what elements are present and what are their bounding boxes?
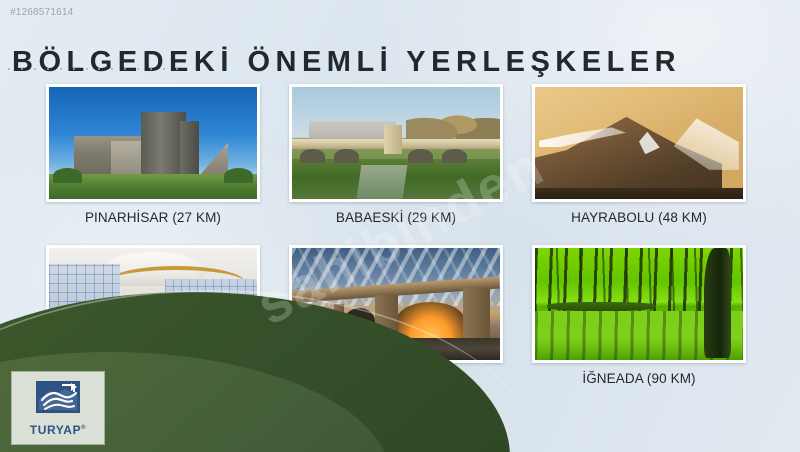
divider-dot: [124, 68, 126, 70]
divider-dot: [73, 68, 75, 70]
place-caption: İĞNEADA (90 KM): [532, 371, 746, 386]
place-caption: HAYRABOLU (48 KM): [532, 210, 746, 225]
brand-logo[interactable]: TURYAP®: [12, 372, 104, 444]
stone-base: [535, 188, 743, 199]
bridge-pier: [463, 288, 490, 344]
castle-ruins-photo: [49, 87, 257, 199]
divider-dot: [163, 68, 165, 70]
listing-id: #1268571614: [10, 7, 73, 18]
place-card-babaeski[interactable]: BABAESKİ (29 KM): [289, 84, 503, 225]
carved-relief-photo: [535, 87, 743, 199]
dotted-divider: [8, 68, 178, 72]
place-card-hayrabolu[interactable]: HAYRABOLU (48 KM): [532, 84, 746, 225]
bridge-arch: [334, 149, 359, 164]
photo-frame: [532, 84, 746, 202]
photo-frame: [532, 245, 746, 363]
river: [356, 165, 406, 199]
divider-dot: [137, 68, 139, 70]
registered-mark: ®: [81, 425, 86, 431]
bush: [224, 168, 253, 184]
divider-dot: [34, 68, 36, 70]
ruin-tower-secondary: [180, 121, 199, 181]
presentation-slide: #1268571614 BÖLGEDEKİ ÖNEMLİ YERLEŞKELER…: [0, 0, 800, 452]
bridge-arch: [300, 149, 325, 164]
divider-dot: [150, 68, 152, 70]
bridge-arch: [442, 149, 467, 164]
place-caption: BABAESKİ (29 KM): [289, 210, 503, 225]
foreground-tree-trunk: [704, 248, 731, 358]
place-card-pinarhisar[interactable]: PINARHİSAR (27 KM): [46, 84, 260, 225]
divider-dot: [47, 68, 49, 70]
photo-frame: [289, 84, 503, 202]
bridge-pylon: [384, 125, 403, 154]
bridge-arch: [408, 149, 433, 164]
place-caption: PINARHİSAR (27 KM): [46, 210, 260, 225]
divider-dot: [98, 68, 100, 70]
bush: [53, 168, 82, 184]
divider-dot: [21, 68, 23, 70]
place-card-igneada[interactable]: İĞNEADA (90 KM): [532, 245, 746, 386]
handshake-icon: [32, 379, 84, 423]
divider-dot: [176, 68, 178, 70]
divider-dot: [86, 68, 88, 70]
flooded-forest-photo: [535, 248, 743, 360]
photo-frame: [46, 84, 260, 202]
shoreline: [547, 302, 655, 311]
stone-bridge-photo: [292, 87, 500, 199]
divider-dot: [60, 68, 62, 70]
page-title: BÖLGEDEKİ ÖNEMLİ YERLEŞKELER: [12, 46, 681, 79]
brand-name: TURYAP®: [30, 423, 86, 437]
brand-name-text: TURYAP: [30, 423, 81, 437]
divider-dot: [8, 68, 10, 70]
divider-dot: [111, 68, 113, 70]
